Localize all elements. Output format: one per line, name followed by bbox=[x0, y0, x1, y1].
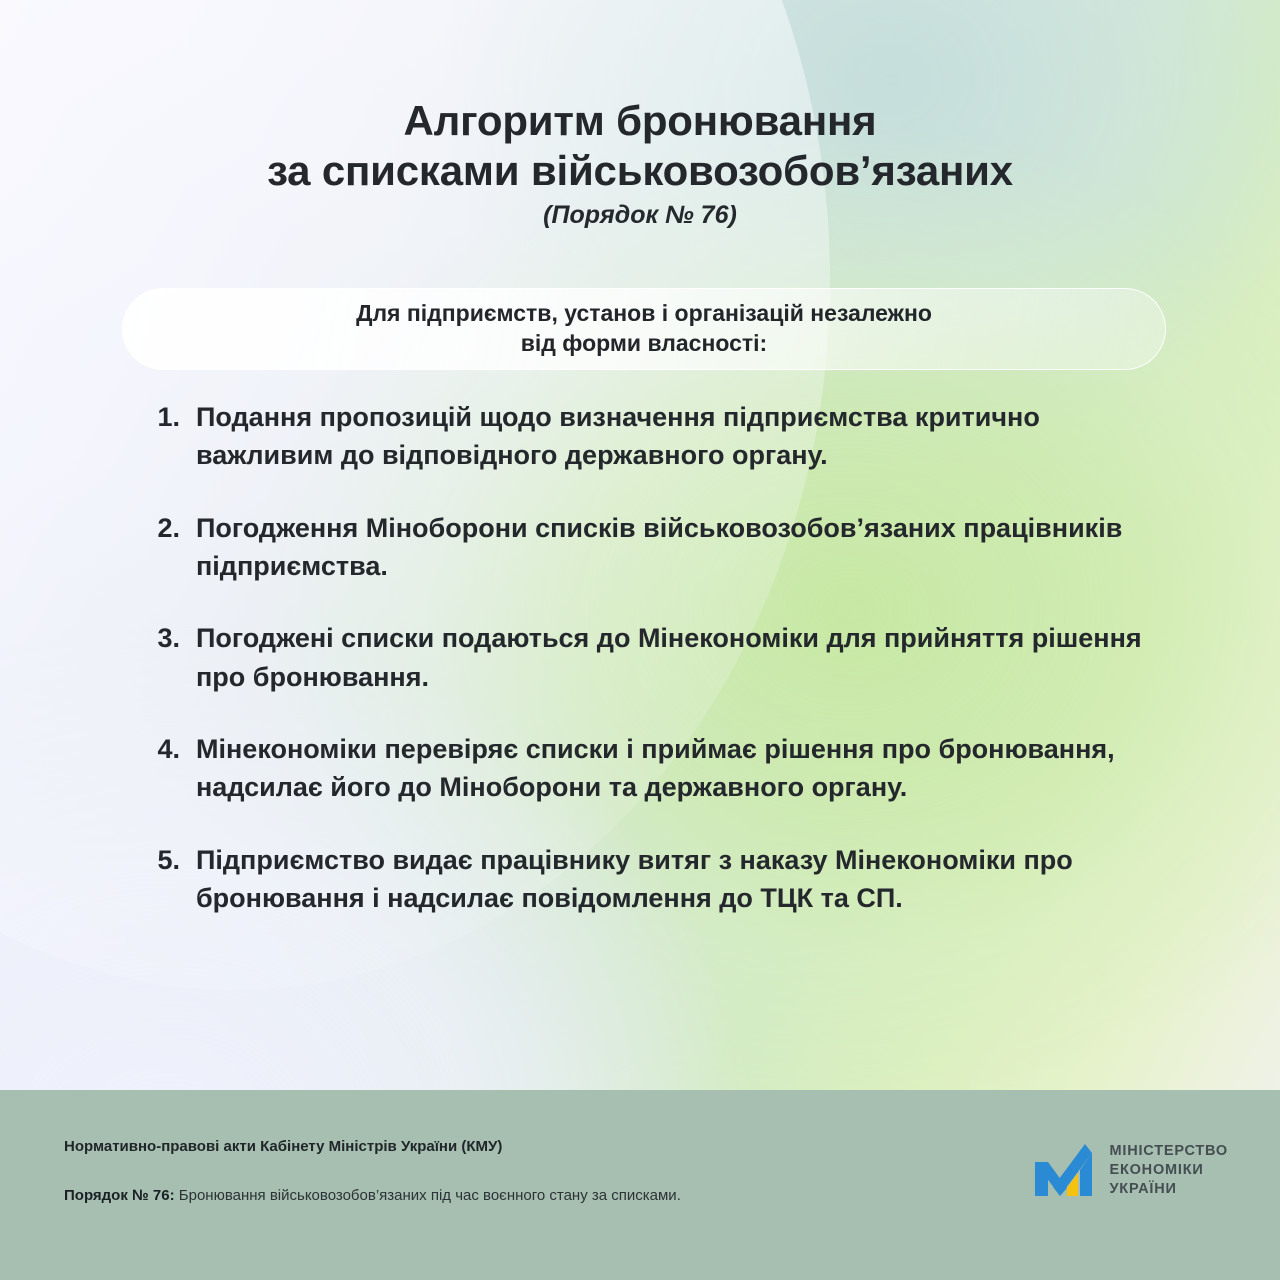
step-number: 1. bbox=[0, 398, 196, 436]
step-text: Підприємство видає працівнику витяг з на… bbox=[196, 841, 1280, 918]
list-item: 3. Погоджені списки подаються до Мінекон… bbox=[0, 619, 1280, 696]
footer-text-group: Нормативно-правові акти Кабінету Міністр… bbox=[64, 1138, 681, 1204]
infographic-poster: Алгоритм бронювання за списками військов… bbox=[0, 0, 1280, 1280]
step-text: Мінекономіки перевіряє списки і приймає … bbox=[196, 730, 1280, 807]
list-item: 2. Погодження Міноборони списків військо… bbox=[0, 509, 1280, 586]
footer-reference-text: Бронювання військовозобов’язаних під час… bbox=[175, 1187, 681, 1204]
footer-reference: Порядок № 76: Бронювання військовозобов’… bbox=[64, 1187, 681, 1204]
step-number: 3. bbox=[0, 619, 196, 657]
list-item: 1. Подання пропозицій щодо визначення пі… bbox=[0, 398, 1280, 475]
step-number: 2. bbox=[0, 509, 196, 547]
step-text: Подання пропозицій щодо визначення підпр… bbox=[196, 398, 1280, 475]
poster-content: Алгоритм бронювання за списками військов… bbox=[0, 0, 1280, 1280]
step-number: 4. bbox=[0, 730, 196, 768]
ministry-logo-wordmark: МІНІСТЕРСТВО ЕКОНОМІКИ УКРАЇНИ bbox=[1109, 1142, 1228, 1199]
page-title-line-2: за списками військовозобов’язаних bbox=[0, 146, 1280, 196]
list-item: 5. Підприємство видає працівнику витяг з… bbox=[0, 841, 1280, 918]
ministry-of-economy-m-logo-icon bbox=[1033, 1142, 1095, 1198]
ministry-logo: МІНІСТЕРСТВО ЕКОНОМІКИ УКРАЇНИ bbox=[1033, 1142, 1228, 1199]
step-number: 5. bbox=[0, 841, 196, 879]
step-text: Погоджені списки подаються до Мінекономі… bbox=[196, 619, 1280, 696]
logo-line-1: МІНІСТЕРСТВО bbox=[1109, 1142, 1228, 1161]
footer-band: Нормативно-правові акти Кабінету Міністр… bbox=[0, 1090, 1280, 1280]
subtitle-line-2: від форми власності: bbox=[356, 329, 932, 359]
steps-list: 1. Подання пропозицій щодо визначення пі… bbox=[0, 398, 1280, 951]
footer-heading: Нормативно-правові акти Кабінету Міністр… bbox=[64, 1138, 681, 1155]
title-parenthetical: (Порядок № 76) bbox=[0, 201, 1280, 230]
subtitle-capsule-text: Для підприємств, установ і організацій н… bbox=[316, 299, 972, 359]
title-block: Алгоритм бронювання за списками військов… bbox=[0, 96, 1280, 230]
subtitle-capsule: Для підприємств, установ і організацій н… bbox=[122, 288, 1166, 370]
logo-line-2: ЕКОНОМІКИ bbox=[1109, 1161, 1228, 1180]
subtitle-line-1: Для підприємств, установ і організацій н… bbox=[356, 299, 932, 329]
page-title-line-1: Алгоритм бронювання bbox=[0, 96, 1280, 146]
list-item: 4. Мінекономіки перевіряє списки і прийм… bbox=[0, 730, 1280, 807]
footer-reference-label: Порядок № 76: bbox=[64, 1187, 175, 1204]
logo-line-3: УКРАЇНИ bbox=[1109, 1180, 1228, 1199]
step-text: Погодження Міноборони списків військовоз… bbox=[196, 509, 1280, 586]
